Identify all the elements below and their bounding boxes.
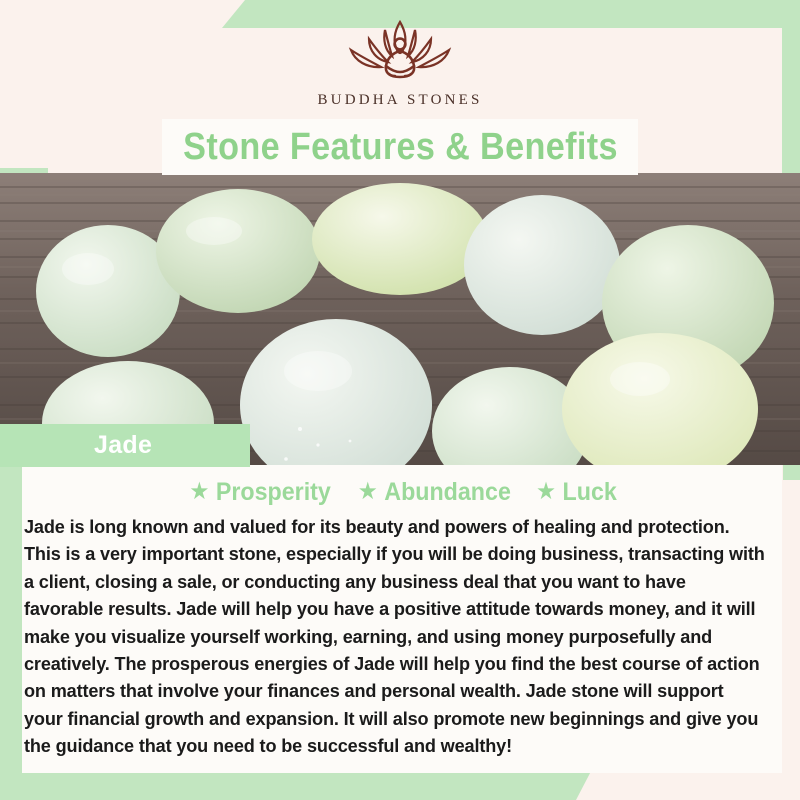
- stone-name-band: Jade: [0, 424, 250, 467]
- content-panel: ★ Prosperity ★ Abundance ★ Luck Jade is …: [22, 465, 782, 773]
- title-band: Stone Features & Benefits: [162, 119, 638, 175]
- stone-photo: [0, 173, 800, 465]
- star-icon: ★: [536, 480, 556, 504]
- brand-name: BUDDHA STONES: [317, 92, 482, 109]
- benefit-abundance: ★ Abundance: [358, 478, 511, 507]
- benefit-label: Prosperity: [216, 478, 331, 507]
- benefit-label: Abundance: [385, 478, 512, 507]
- benefits-row: ★ Prosperity ★ Abundance ★ Luck: [22, 471, 782, 513]
- star-icon: ★: [358, 480, 378, 504]
- stone-description: Jade is long known and valued for its be…: [24, 513, 767, 760]
- benefit-prosperity: ★ Prosperity: [189, 478, 331, 507]
- stone-name-label: Jade: [94, 431, 152, 460]
- brand-header: BUDDHA STONES: [0, 0, 800, 122]
- stone-photo-illustration: [0, 173, 800, 465]
- page-title: Stone Features & Benefits: [183, 126, 618, 169]
- star-icon: ★: [189, 480, 209, 504]
- benefit-luck: ★ Luck: [536, 478, 617, 507]
- stone-benefits-infographic: BUDDHA STONES Stone Features & Benefits: [0, 0, 800, 800]
- lotus-meditation-figure-icon: [325, 14, 475, 88]
- benefit-label: Luck: [563, 478, 617, 507]
